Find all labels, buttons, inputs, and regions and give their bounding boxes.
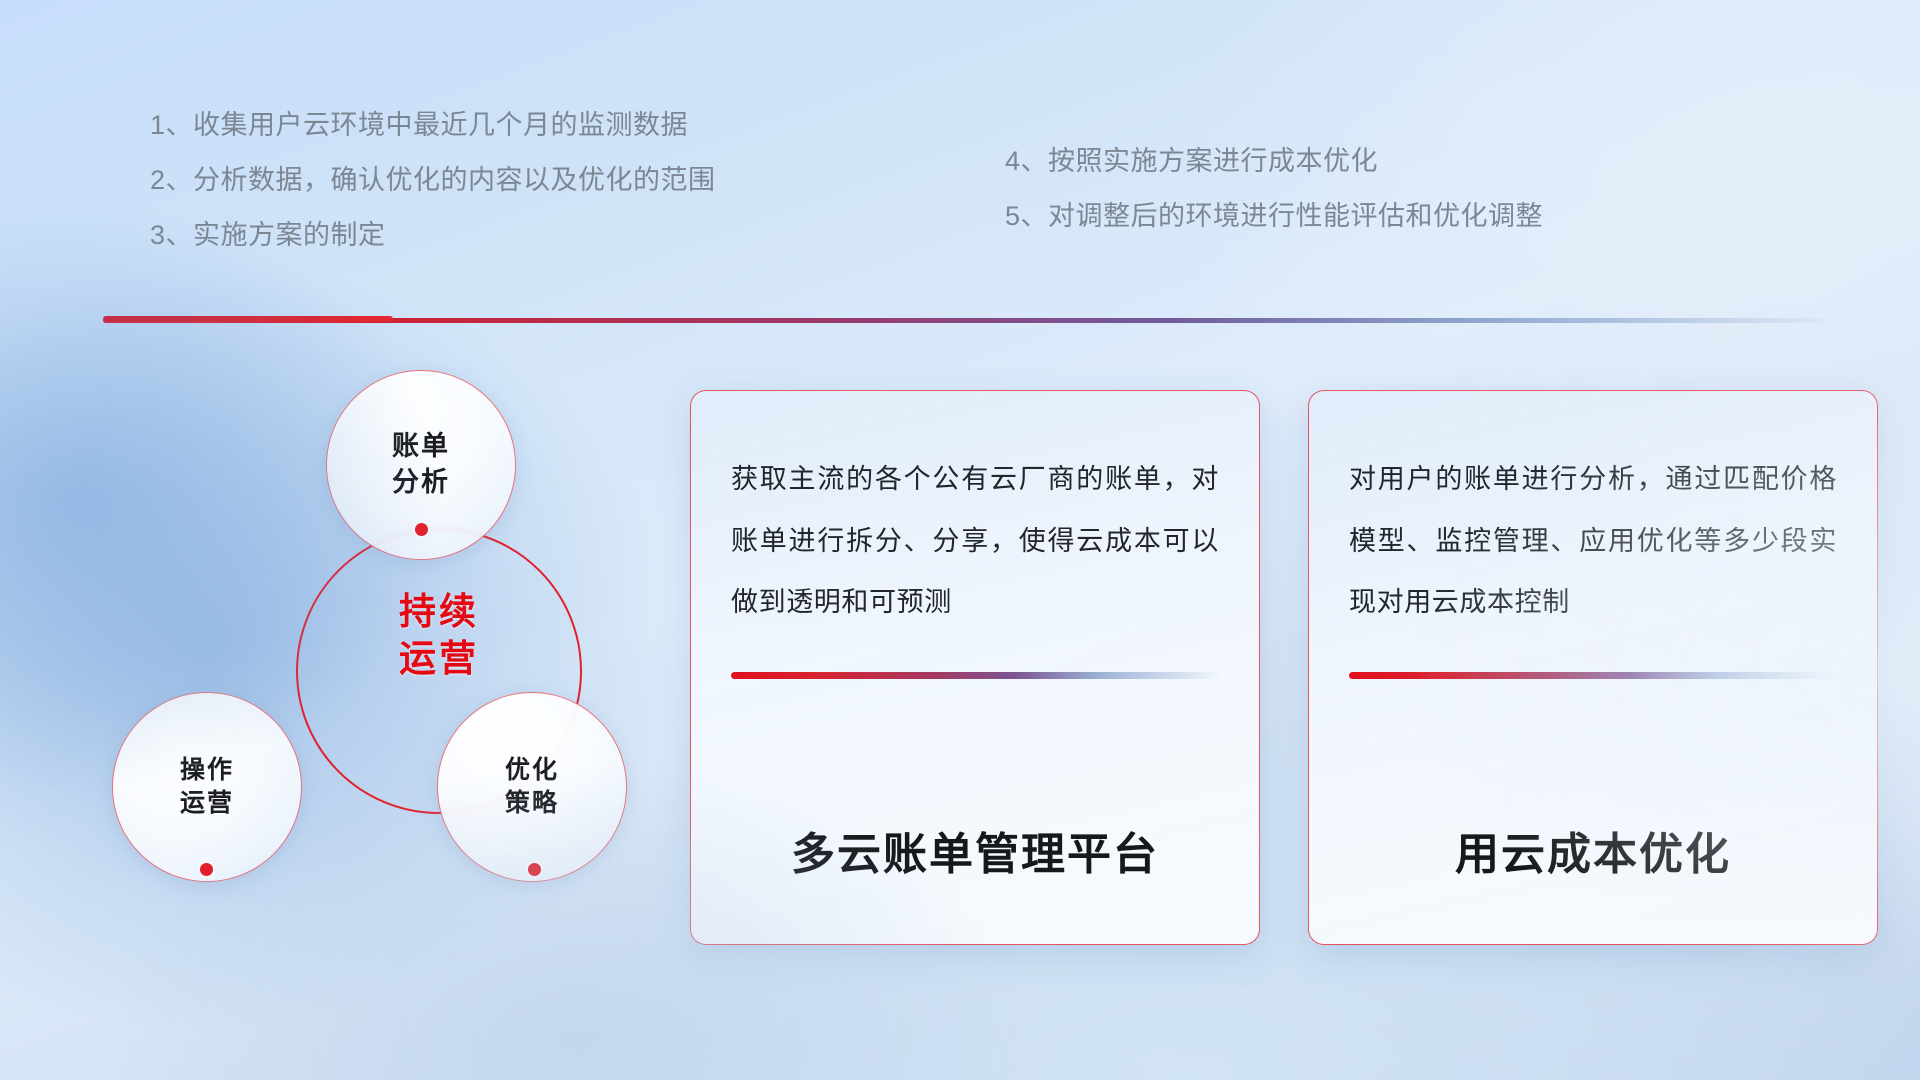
venn-node-dot-left	[200, 863, 213, 876]
step-item: 2、分析数据，确认优化的内容以及优化的范围	[150, 167, 716, 194]
step-item: 4、按照实施方案进行成本优化	[1005, 148, 1543, 175]
feature-card-multicloud-billing[interactable]: 获取主流的各个公有云厂商的账单，对账单进行拆分、分享，使得云成本可以做到透明和可…	[690, 390, 1260, 945]
venn-center-line2: 运营	[296, 635, 582, 682]
card-accent-rule	[1349, 672, 1837, 679]
venn-node-dot-top	[415, 523, 428, 536]
venn-bubble-operations[interactable]: 操作 运营	[112, 692, 302, 882]
card-title: 多云账单管理平台	[731, 818, 1219, 882]
venn-center-label: 持续 运营	[296, 588, 582, 683]
card-body-text: 对用户的账单进行分析，通过匹配价格模型、监控管理、应用优化等多少段实现对用云成本…	[1349, 449, 1837, 634]
slide-canvas: 1、收集用户云环境中最近几个月的监测数据 2、分析数据，确认优化的内容以及优化的…	[0, 0, 1920, 1080]
card-body-text: 获取主流的各个公有云厂商的账单，对账单进行拆分、分享，使得云成本可以做到透明和可…	[731, 449, 1219, 634]
card-accent-rule	[731, 672, 1219, 679]
venn-bubble-line2: 运营	[180, 787, 234, 820]
venn-bubble-line2: 分析	[392, 465, 450, 501]
feature-card-cost-optimization[interactable]: 对用户的账单进行分析，通过匹配价格模型、监控管理、应用优化等多少段实现对用云成本…	[1308, 390, 1878, 945]
section-divider	[103, 318, 1823, 323]
step-item: 5、对调整后的环境进行性能评估和优化调整	[1005, 203, 1543, 230]
steps-list-left: 1、收集用户云环境中最近几个月的监测数据 2、分析数据，确认优化的内容以及优化的…	[150, 112, 716, 277]
steps-list-right: 4、按照实施方案进行成本优化 5、对调整后的环境进行性能评估和优化调整	[1005, 148, 1543, 258]
venn-diagram: 持续 运营 账单 分析 操作 运营 优化 策略	[100, 360, 620, 930]
venn-center-line1: 持续	[296, 588, 582, 635]
card-title: 用云成本优化	[1349, 818, 1837, 882]
venn-bubble-optimization-strategy[interactable]: 优化 策略	[437, 692, 627, 882]
venn-bubble-line1: 操作	[180, 754, 234, 787]
step-item: 1、收集用户云环境中最近几个月的监测数据	[150, 112, 716, 139]
venn-bubble-line2: 策略	[505, 787, 559, 820]
venn-bubble-line1: 账单	[392, 429, 450, 465]
venn-node-dot-right	[528, 863, 541, 876]
step-item: 3、实施方案的制定	[150, 222, 716, 249]
venn-bubble-line1: 优化	[505, 754, 559, 787]
